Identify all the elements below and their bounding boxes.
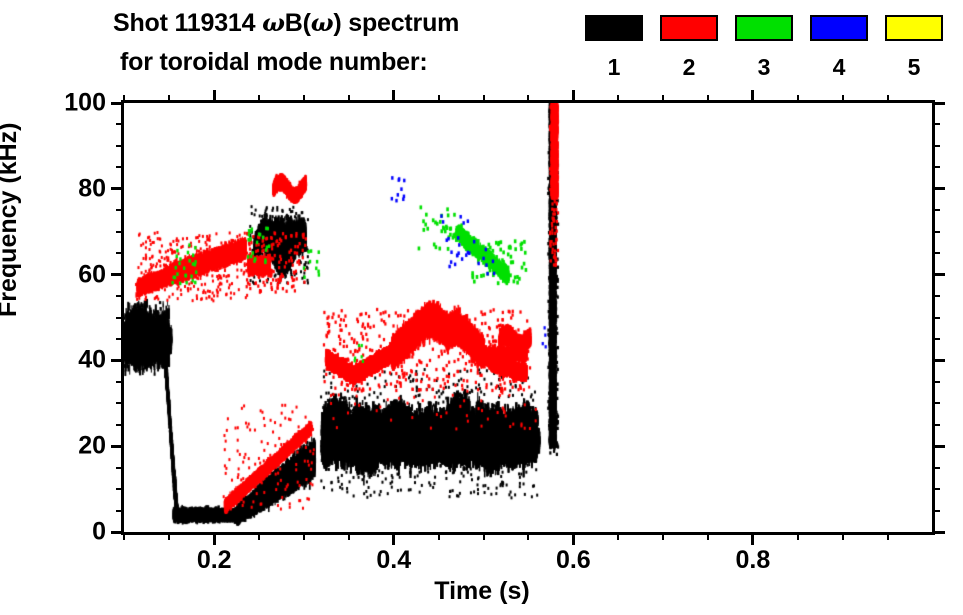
figure-title-line1: Shot 119314 ωB(ω) spectrum — [113, 8, 459, 38]
y-tick-right — [932, 402, 940, 404]
y-tick-right — [932, 145, 940, 147]
y-tick-left — [116, 295, 124, 297]
y-tick-left — [111, 359, 124, 362]
x-tick-bottom — [168, 532, 170, 540]
y-tick-left — [116, 424, 124, 426]
y-tick-right — [932, 467, 940, 469]
x-tick-top — [707, 95, 709, 103]
legend-label-4: 4 — [810, 54, 868, 81]
x-tick-bottom — [392, 532, 395, 545]
x-tick-top — [438, 95, 440, 103]
x-tick-label-0.4: 0.4 — [349, 546, 439, 575]
y-tick-right — [932, 510, 940, 512]
x-tick-bottom — [662, 532, 664, 540]
x-tick-top — [168, 95, 170, 103]
y-tick-left — [111, 445, 124, 448]
y-tick-right — [932, 381, 940, 383]
x-tick-bottom — [527, 532, 529, 540]
x-tick-top — [303, 95, 305, 103]
y-tick-left — [116, 252, 124, 254]
y-tick-right — [932, 187, 945, 190]
x-axis-title: Time (s) — [434, 577, 529, 606]
x-tick-label-0.6: 0.6 — [528, 546, 618, 575]
legend-swatch-1 — [585, 15, 643, 41]
spectrogram-figure: Shot 119314 ωB(ω) spectrum for toroidal … — [0, 0, 963, 615]
y-tick-left — [116, 145, 124, 147]
x-tick-label-0.8: 0.8 — [708, 546, 798, 575]
y-tick-right — [932, 123, 940, 125]
x-tick-label-0.2: 0.2 — [169, 546, 259, 575]
x-tick-bottom — [887, 532, 889, 540]
x-tick-bottom — [438, 532, 440, 540]
y-tick-left — [116, 166, 124, 168]
omega-symbol-2: ω — [311, 8, 334, 37]
y-tick-right — [932, 531, 945, 534]
legend-label-3: 3 — [735, 54, 793, 81]
y-tick-left — [116, 467, 124, 469]
x-tick-bottom — [572, 532, 575, 545]
omega-symbol-1: ω — [262, 8, 285, 37]
plot-area: 0204060801000.20.40.60.8 — [121, 100, 935, 535]
x-tick-bottom — [348, 532, 350, 540]
x-tick-bottom — [707, 532, 709, 540]
y-tick-right — [932, 209, 940, 211]
y-tick-right — [932, 252, 940, 254]
x-tick-top — [213, 90, 216, 103]
y-tick-left — [111, 531, 124, 534]
y-tick-left — [116, 209, 124, 211]
x-tick-bottom — [617, 532, 619, 540]
x-tick-top — [751, 90, 754, 103]
legend-swatch-4 — [810, 15, 868, 41]
legend-swatch-5 — [885, 15, 943, 41]
y-tick-left — [111, 187, 124, 190]
x-tick-bottom — [123, 532, 125, 540]
y-tick-left — [111, 102, 124, 105]
legend-label-5: 5 — [885, 54, 943, 81]
y-tick-right — [932, 445, 945, 448]
spectrogram-canvas — [124, 103, 932, 532]
x-tick-top — [483, 95, 485, 103]
x-tick-top — [662, 95, 664, 103]
y-tick-label-0: 0 — [36, 518, 106, 547]
y-tick-left — [116, 123, 124, 125]
x-tick-top — [842, 95, 844, 103]
y-tick-label-80: 80 — [36, 174, 106, 203]
x-tick-top — [392, 90, 395, 103]
title-suffix: ) spectrum — [333, 9, 459, 37]
figure-title-line2: for toroidal mode number: — [120, 48, 428, 77]
x-tick-top — [572, 90, 575, 103]
x-tick-bottom — [797, 532, 799, 540]
x-tick-top — [617, 95, 619, 103]
y-tick-left — [116, 231, 124, 233]
y-tick-right — [932, 295, 940, 297]
y-tick-left — [116, 317, 124, 319]
legend-label-1: 1 — [585, 54, 643, 81]
legend-swatch-2 — [660, 15, 718, 41]
legend: 12345 — [585, 10, 957, 82]
y-tick-right — [932, 424, 940, 426]
y-tick-left — [116, 510, 124, 512]
x-tick-bottom — [213, 532, 216, 545]
y-tick-left — [111, 273, 124, 276]
x-tick-top — [797, 95, 799, 103]
y-tick-right — [932, 359, 945, 362]
y-tick-right — [932, 317, 940, 319]
x-tick-bottom — [303, 532, 305, 540]
y-tick-right — [932, 231, 940, 233]
y-tick-right — [932, 338, 940, 340]
title-mid: B( — [285, 9, 311, 37]
x-tick-bottom — [751, 532, 754, 545]
y-axis-title: Frequency (kHz) — [0, 123, 23, 317]
y-tick-left — [116, 402, 124, 404]
legend-swatch-3 — [735, 15, 793, 41]
x-tick-bottom — [258, 532, 260, 540]
title-prefix: Shot 119314 — [113, 9, 262, 37]
x-tick-top — [348, 95, 350, 103]
x-tick-top — [527, 95, 529, 103]
y-tick-right — [932, 166, 940, 168]
y-tick-right — [932, 273, 945, 276]
y-tick-left — [116, 338, 124, 340]
y-tick-right — [932, 488, 940, 490]
legend-label-2: 2 — [660, 54, 718, 81]
y-tick-label-40: 40 — [36, 346, 106, 375]
y-tick-label-100: 100 — [36, 89, 106, 118]
y-tick-right — [932, 102, 945, 105]
y-tick-label-60: 60 — [36, 260, 106, 289]
y-tick-left — [116, 381, 124, 383]
x-tick-top — [123, 95, 125, 103]
x-tick-bottom — [842, 532, 844, 540]
y-tick-label-20: 20 — [36, 432, 106, 461]
x-tick-top — [887, 95, 889, 103]
x-tick-bottom — [483, 532, 485, 540]
x-tick-top — [258, 95, 260, 103]
y-tick-left — [116, 488, 124, 490]
